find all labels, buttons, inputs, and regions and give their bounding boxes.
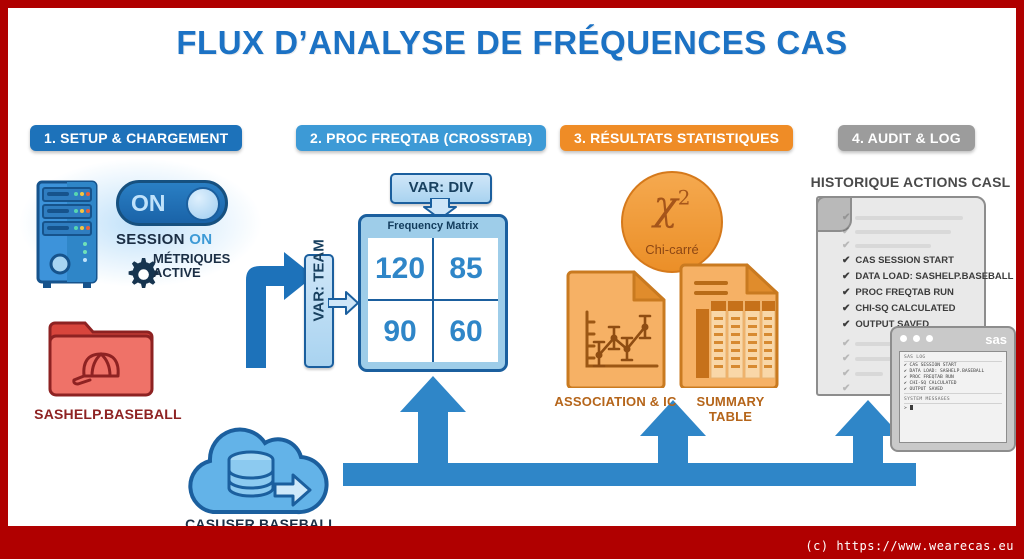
matrix-cell: 85 bbox=[434, 238, 498, 299]
terminal-screen: SAS LOG ✔ CAS SESSION START ✔ DATA LOAD:… bbox=[899, 351, 1007, 443]
check-icon: ✔ bbox=[842, 287, 850, 298]
audit-entry-placeholder: ✔ bbox=[842, 212, 963, 223]
window-dot[interactable] bbox=[900, 335, 907, 342]
window-dot[interactable] bbox=[913, 335, 920, 342]
matrix-grid: 120 85 90 60 bbox=[368, 238, 498, 362]
chi-symbol: χ2 bbox=[623, 183, 721, 229]
chi-exponent: 2 bbox=[678, 186, 691, 210]
audit-entry-label: DATA LOAD: SASHELP.BASEBALL bbox=[855, 271, 1013, 282]
session-status-value: ON bbox=[189, 231, 212, 248]
check-icon: ✔ bbox=[842, 319, 850, 330]
metrics-line-2: ACTIVE bbox=[153, 266, 230, 280]
terminal-messages-title: SYSTEM MESSAGES bbox=[904, 397, 1006, 402]
session-status-text: SESSION bbox=[116, 231, 189, 248]
summary-table-document-icon[interactable] bbox=[678, 263, 780, 388]
audit-heading: HISTORIQUE ACTIONS CASL bbox=[803, 174, 1016, 190]
cloud-icon[interactable] bbox=[171, 426, 346, 516]
audit-entry-label: PROC FREQTAB RUN bbox=[855, 287, 954, 298]
chi-glyph: χ bbox=[654, 183, 678, 229]
terminal-line: ✔ CAS SESSION START bbox=[904, 363, 1006, 368]
audit-entry-placeholder: ✔ bbox=[842, 368, 883, 379]
frequency-matrix: Frequency Matrix 120 85 90 60 bbox=[358, 214, 508, 372]
var-team-arrow-icon bbox=[328, 290, 360, 316]
terminal-cursor bbox=[910, 405, 913, 410]
matrix-cell: 120 bbox=[368, 238, 432, 299]
summary-table-label: SUMMARY TABLE bbox=[673, 394, 788, 424]
divider bbox=[904, 393, 1002, 394]
session-toggle[interactable]: ON bbox=[116, 180, 228, 226]
server-icon bbox=[36, 180, 98, 292]
audit-entry-placeholder: ✔ bbox=[842, 353, 895, 364]
matrix-cell: 90 bbox=[368, 301, 432, 362]
section-header-stats: 3. RÉSULTATS STATISTIQUES bbox=[560, 125, 793, 151]
sas-terminal-window[interactable]: sas SAS LOG ✔ CAS SESSION START ✔ DATA L… bbox=[890, 326, 1016, 452]
page-title: FLUX D’ANALYSE DE FRÉQUENCES CAS bbox=[8, 24, 1016, 62]
terminal-line-label: DATA LOAD: SASHELP.BASEBALL bbox=[910, 369, 985, 374]
chi-square-badge: χ2 Chi-carré bbox=[621, 171, 723, 273]
audit-entry-placeholder: ✔ bbox=[842, 383, 850, 394]
toggle-knob[interactable] bbox=[186, 187, 220, 221]
toggle-label: ON bbox=[131, 189, 166, 217]
audit-entry: ✔PROC FREQTAB RUN bbox=[842, 287, 954, 298]
check-icon: ✔ bbox=[842, 255, 850, 266]
association-chart-label: ASSOCIATION & IC bbox=[553, 394, 678, 409]
chi-caption: Chi-carré bbox=[623, 242, 721, 257]
divider bbox=[904, 403, 1002, 404]
matrix-title: Frequency Matrix bbox=[361, 220, 505, 232]
audit-entry: ✔DATA LOAD: SASHELP.BASEBALL bbox=[842, 271, 1013, 282]
infographic-canvas: FLUX D’ANALYSE DE FRÉQUENCES CAS 1. SETU… bbox=[8, 8, 1016, 526]
terminal-line: ✔ PROC FREQTAB RUN bbox=[904, 375, 1006, 380]
sas-logo: sas bbox=[985, 332, 1007, 347]
terminal-log-title: SAS LOG bbox=[904, 355, 1006, 360]
terminal-line: ✔ CHI-SQ CALCULATED bbox=[904, 381, 1006, 386]
audit-entry: ✔CAS SESSION START bbox=[842, 255, 954, 266]
terminal-line: ✔ DATA LOAD: SASHELP.BASEBALL bbox=[904, 369, 1006, 374]
matrix-cell: 60 bbox=[434, 301, 498, 362]
section-header-freqtab: 2. PROC FREQTAB (CROSSTAB) bbox=[296, 125, 546, 151]
terminal-prompt[interactable]: > bbox=[904, 405, 1006, 411]
section-header-audit: 4. AUDIT & LOG bbox=[838, 125, 975, 151]
audit-entry-placeholder: ✔ bbox=[842, 240, 931, 251]
session-status: SESSION ON bbox=[116, 231, 212, 248]
audit-entry-placeholder: ✔ bbox=[842, 226, 951, 237]
window-controls[interactable] bbox=[900, 335, 933, 342]
terminal-line-label: CAS SESSION START bbox=[910, 363, 957, 368]
terminal-prompt-symbol: > bbox=[904, 406, 907, 411]
audit-entry-label: CHI-SQ CALCULATED bbox=[855, 303, 955, 314]
section-header-setup: 1. SETUP & CHARGEMENT bbox=[30, 125, 242, 151]
terminal-line-label: CHI-SQ CALCULATED bbox=[910, 381, 957, 386]
terminal-line: ✔ OUTPUT SAVED bbox=[904, 387, 1006, 392]
folder-label: SASHELP.BASEBALL bbox=[18, 406, 198, 422]
watermark: (c) https://www.wearecas.eu bbox=[805, 539, 1014, 553]
check-icon: ✔ bbox=[842, 303, 850, 314]
metrics-status: MÉTRIQUES ACTIVE bbox=[153, 252, 230, 280]
folder-icon[interactable] bbox=[46, 314, 156, 399]
check-icon: ✔ bbox=[842, 271, 850, 282]
audit-entry-label: CAS SESSION START bbox=[855, 255, 954, 266]
association-chart-document-icon[interactable] bbox=[565, 270, 667, 388]
terminal-line-label: OUTPUT SAVED bbox=[910, 387, 943, 392]
audit-entry: ✔CHI-SQ CALCULATED bbox=[842, 303, 955, 314]
var-team-label: VAR: TEAM bbox=[311, 296, 328, 322]
divider bbox=[904, 361, 1002, 362]
window-dot[interactable] bbox=[926, 335, 933, 342]
terminal-line-label: PROC FREQTAB RUN bbox=[910, 375, 954, 380]
metrics-line-1: MÉTRIQUES bbox=[153, 252, 230, 266]
cloud-label: CASUSER.BASEBALL bbox=[161, 516, 361, 526]
